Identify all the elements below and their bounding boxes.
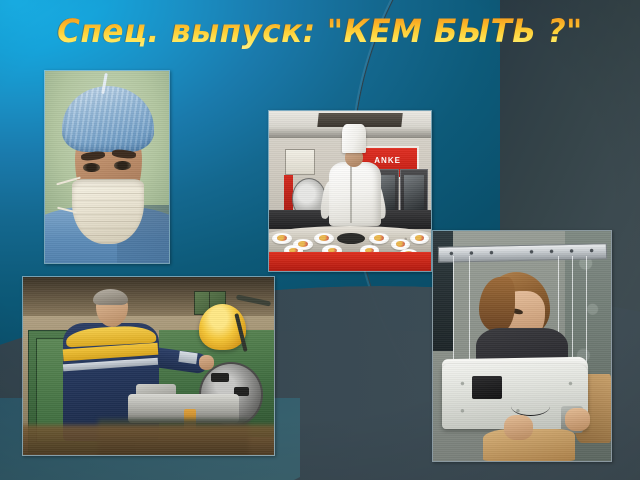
chef-plate — [369, 233, 388, 244]
chef-coat-button-line — [350, 165, 352, 223]
presentation-slide: Спец. выпуск: "КЕМ БЫТЬ ?" — [0, 0, 640, 480]
photo-chef[interactable]: ANKE — [268, 110, 432, 272]
doctor-eye-left — [83, 163, 99, 172]
chef-white-coat — [329, 162, 381, 226]
chef-plate — [410, 233, 429, 244]
chef-oven-right-glass — [404, 175, 424, 211]
chef-plate — [314, 233, 333, 244]
chef-scene: ANKE — [269, 111, 431, 271]
chef-serving-pan — [337, 233, 365, 244]
photo-seamstress[interactable] — [432, 230, 612, 462]
seamstress-thread — [453, 256, 454, 366]
chef-plate — [272, 233, 291, 244]
turner-hand — [199, 355, 214, 369]
seamstress-machine-label — [529, 381, 579, 393]
seamstress-hair-front — [479, 277, 515, 332]
photo-turner[interactable] — [22, 276, 275, 456]
seamstress-hand-right — [565, 408, 590, 431]
doctor-scene — [45, 71, 169, 263]
chef-toque-hat — [342, 124, 366, 153]
seamstress-thread — [469, 256, 470, 366]
turner-scene — [23, 277, 274, 455]
photo-doctor[interactable] — [44, 70, 170, 264]
seamstress-scene — [433, 231, 611, 461]
seamstress-hand-left — [504, 415, 532, 440]
chef-wall-board — [285, 149, 315, 175]
turner-hair — [93, 289, 128, 305]
turner-chuck-jaw — [211, 373, 229, 382]
slide-title: Спец. выпуск: "КЕМ БЫТЬ ?" — [10, 12, 631, 50]
seamstress-machine-black-panel — [472, 376, 502, 399]
seamstress-thread — [586, 256, 587, 366]
turner-foreground-blur-rail — [22, 425, 275, 456]
seamstress-thread — [572, 256, 573, 366]
chef-counter-red-skirt — [269, 252, 431, 271]
turner-sleeve-cuff — [178, 351, 197, 364]
doctor-eye-right — [114, 161, 130, 170]
